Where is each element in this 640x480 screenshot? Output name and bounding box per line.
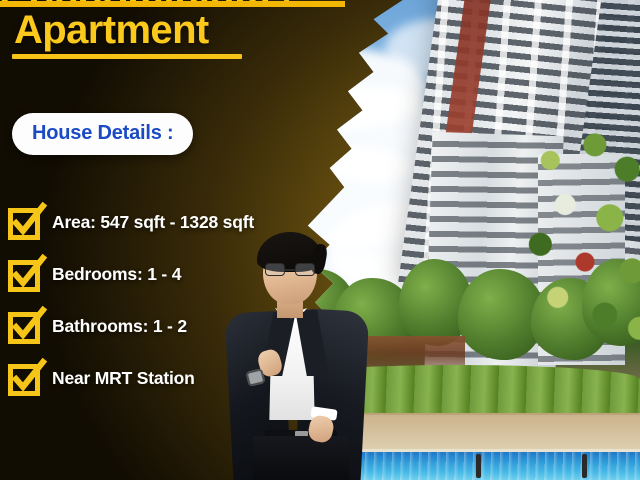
list-item-label: Area: 547 sqft - 1328 sqft bbox=[52, 212, 254, 233]
page-title: Apartment bbox=[14, 10, 209, 50]
house-details-badge-label: House Details : bbox=[32, 122, 173, 144]
checkbox-checked-icon bbox=[8, 256, 44, 292]
list-item-label: Bathrooms: 1 - 2 bbox=[52, 316, 187, 337]
trousers bbox=[253, 436, 349, 480]
list-item: Near MRT Station bbox=[8, 352, 308, 404]
property-listing-poster: Condominium / Apartment House Details : … bbox=[0, 0, 640, 480]
house-details-list: Area: 547 sqft - 1328 sqft Bedrooms: 1 -… bbox=[8, 196, 308, 404]
list-item: Area: 547 sqft - 1328 sqft bbox=[8, 196, 308, 248]
page-title-underline bbox=[12, 54, 242, 59]
list-item: Bedrooms: 1 - 4 bbox=[8, 248, 308, 300]
cut-off-heading-underline bbox=[0, 1, 345, 7]
checkbox-checked-icon bbox=[8, 360, 44, 396]
checkbox-checked-icon bbox=[8, 204, 44, 240]
pool-post bbox=[476, 454, 481, 478]
foliage-vines-right bbox=[523, 125, 640, 346]
list-item-label: Near MRT Station bbox=[52, 368, 195, 389]
list-item: Bathrooms: 1 - 2 bbox=[8, 300, 308, 352]
house-details-badge: House Details : bbox=[12, 113, 193, 155]
pool-post bbox=[582, 454, 587, 478]
checkbox-checked-icon bbox=[8, 308, 44, 344]
list-item-label: Bedrooms: 1 - 4 bbox=[52, 264, 181, 285]
